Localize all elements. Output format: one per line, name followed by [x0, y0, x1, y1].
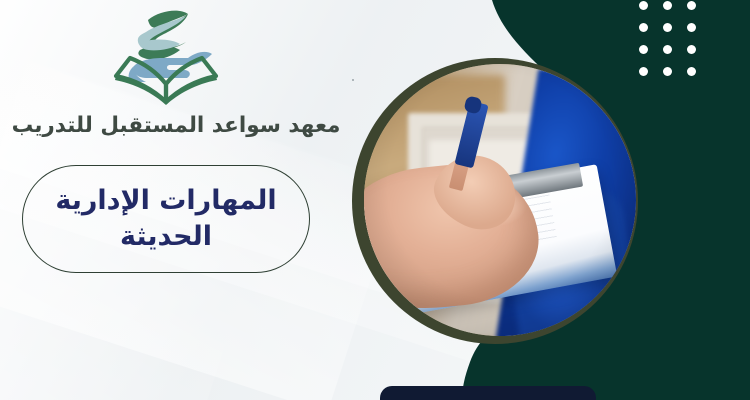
course-title-line-2: الحديثة: [55, 219, 276, 255]
grid-dot: [639, 67, 648, 76]
grid-dot: [663, 1, 672, 10]
grid-dot: [639, 23, 648, 32]
grid-dot: [687, 45, 696, 54]
course-title: المهارات الإدارية الحديثة: [41, 183, 290, 254]
dot-grid-pattern: [631, 0, 703, 82]
photo-vignette: [364, 64, 636, 336]
grid-dot: [663, 67, 672, 76]
calligraphy-ribbon-icon: [138, 11, 188, 60]
grid-dot: [663, 45, 672, 54]
grid-dot: [639, 45, 648, 54]
grid-dot: [687, 23, 696, 32]
course-title-box: المهارات الإدارية الحديثة: [22, 165, 310, 273]
institute-name: معهد سواعد المستقبل للتدريب: [0, 113, 352, 138]
navy-bottom-bar: [380, 386, 596, 400]
background-speck: [352, 79, 354, 81]
training-course-banner: معهد سواعد المستقبل للتدريب المهارات الإ…: [0, 0, 750, 400]
grid-dot: [687, 1, 696, 10]
course-title-line-1: المهارات الإدارية: [55, 183, 276, 219]
grid-dot: [687, 67, 696, 76]
sawaed-almustaqbal-institute-logo: [96, 6, 236, 118]
grid-dot: [663, 23, 672, 32]
photo-circle-clip: [364, 64, 636, 336]
hand-writing-on-clipboard-photo: [352, 58, 638, 344]
grid-dot: [639, 1, 648, 10]
